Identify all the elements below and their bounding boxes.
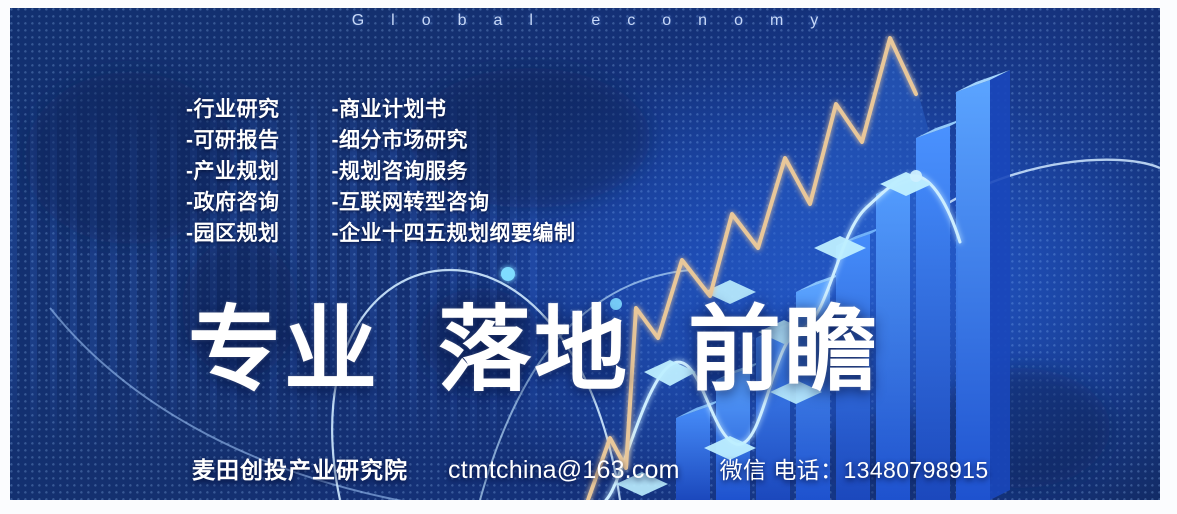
bar-peak-node <box>910 170 922 182</box>
headline: 专业 落地 前瞻 <box>188 304 880 397</box>
service-item: -规划咨询服务 <box>332 156 576 187</box>
service-item: -政府咨询 <box>186 187 280 218</box>
service-item: -细分市场研究 <box>332 125 576 156</box>
services-column-left: -行业研究 -可研报告 -产业规划 -政府咨询 -园区规划 <box>186 94 280 249</box>
phone-number: 13480798915 <box>843 457 988 483</box>
chart-graphics <box>10 8 1160 500</box>
service-item: -行业研究 <box>186 94 280 125</box>
service-item: -企业十四五规划纲要编制 <box>332 218 576 249</box>
service-item: -互联网转型咨询 <box>332 187 576 218</box>
phone-contact: 微信 电话：13480798915 <box>720 451 989 485</box>
services-column-right: -商业计划书 -细分市场研究 -规划咨询服务 -互联网转型咨询 -企业十四五规划… <box>332 94 576 249</box>
contact-label: 微信 电话： <box>720 457 844 483</box>
service-item: -可研报告 <box>186 125 280 156</box>
service-item: -产业规划 <box>186 156 280 187</box>
email-address[interactable]: ctmtchina@163.com <box>448 456 680 485</box>
banner-stage: Global economy -行业研究 -可研报告 -产业规划 -政府咨询 -… <box>10 8 1160 500</box>
bar-8 <box>956 70 1010 500</box>
headline-word: 落地 <box>438 304 630 397</box>
banner-frame: Global economy -行业研究 -可研报告 -产业规划 -政府咨询 -… <box>0 0 1177 514</box>
headline-word: 前瞻 <box>688 304 880 397</box>
headline-word: 专业 <box>188 304 380 397</box>
services-lists: -行业研究 -可研报告 -产业规划 -政府咨询 -园区规划 -商业计划书 -细分… <box>186 94 576 249</box>
service-item: -商业计划书 <box>332 94 576 125</box>
organization-name: 麦田创投产业研究院 <box>192 451 408 485</box>
wordmark-global-economy: Global economy <box>10 12 1160 30</box>
service-item: -园区规划 <box>186 218 280 249</box>
orbit-node-dot <box>501 267 515 281</box>
footer-contact-bar: 麦田创投产业研究院 ctmtchina@163.com 微信 电话：134807… <box>192 451 989 485</box>
